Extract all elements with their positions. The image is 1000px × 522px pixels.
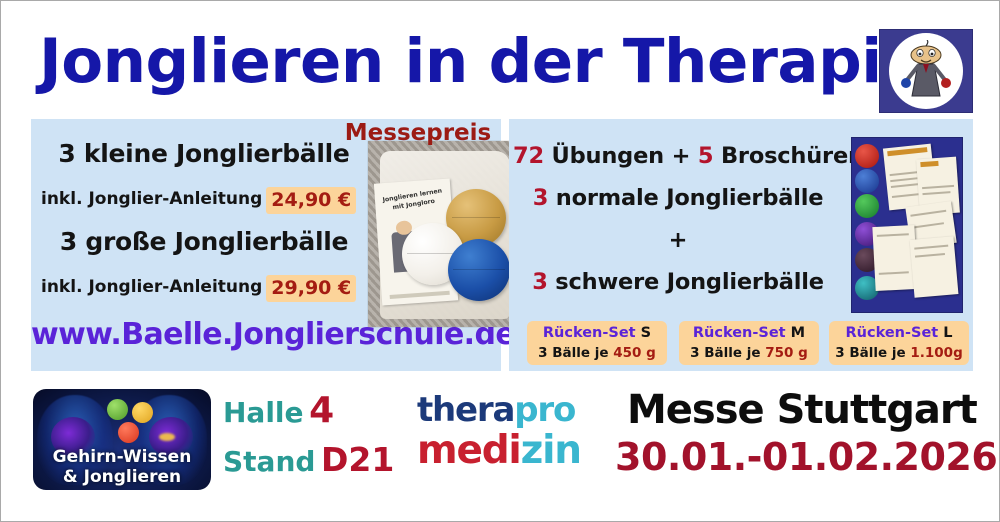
right-line4-text: schwere Jonglierbälle <box>548 269 824 295</box>
ruecken-set-l-title: Rücken-Set L <box>829 325 969 341</box>
ruecken-set-l-name: Rücken-Set <box>845 325 943 341</box>
ruecken-set-s-title: Rücken-Set S <box>527 325 667 341</box>
ruecken-set-m-weight: 750 <box>765 345 793 361</box>
ruecken-set-s-size: S <box>641 325 651 341</box>
brain-spark <box>159 433 175 441</box>
brochure-5 <box>910 236 959 298</box>
right-line1-text2: Broschüren <box>713 143 863 169</box>
booklet-footer-bar <box>390 291 450 299</box>
right-line1-num1: 72 <box>513 143 544 169</box>
ruecken-set-m-title: Rücken-Set M <box>679 325 819 341</box>
right-line-4: 3 schwere Jonglierbälle <box>513 269 843 295</box>
hall-row: Halle 4 <box>223 393 334 429</box>
juggler-logo <box>879 29 973 113</box>
venue-name: Messe Stuttgart <box>627 387 977 433</box>
sets-panel: 72 Übungen + 5 Broschüren 3 normale Jong… <box>509 119 973 371</box>
offer1-subline: inkl. Jonglier-Anleitung24,90 € <box>41 187 371 214</box>
ruecken-set-l[interactable]: Rücken-Set L 3 Bälle je 1.100g <box>829 321 969 365</box>
medizin-zin: zin <box>521 428 581 473</box>
ruecken-set-s-weight: 450 <box>613 345 641 361</box>
ruecken-set-s-sub: 3 Bälle je 450 g <box>527 345 667 361</box>
footer: Gehirn-Wissen & Jonglieren Halle 4 Stand… <box>1 379 1000 509</box>
ruecken-set-m-sub: 3 Bälle je 750 g <box>679 345 819 361</box>
venue-dates: 30.01.-01.02.2026 <box>615 435 997 479</box>
stand-value: D21 <box>321 440 394 479</box>
ruecken-set-s-prefix: 3 Bälle je <box>538 345 613 361</box>
set-ball-red <box>855 144 879 168</box>
ruecken-set-l-weight: 1.100 <box>910 345 953 361</box>
logo-ball-red <box>118 422 139 443</box>
messepreis-label: Messepreis <box>338 120 498 146</box>
gehirn-logo-line2: & Jonglieren <box>33 467 211 487</box>
ruecken-set-l-size: L <box>943 325 952 341</box>
ruecken-set-l-sub: 3 Bälle je 1.100g <box>829 345 969 361</box>
product-photo-balls: Jonglieren lernen mit Jongloro <box>368 141 518 327</box>
juggler-icon <box>896 40 956 102</box>
therapro-thera: thera <box>417 390 514 430</box>
offer1-title: 3 kleine Jonglierbälle <box>49 139 359 168</box>
right-line4-num: 3 <box>532 269 547 295</box>
logo-ball-yellow <box>132 402 153 423</box>
right-line-1: 72 Übungen + 5 Broschüren <box>513 143 843 169</box>
offers-panel: 3 kleine Jonglierbälle inkl. Jonglier-An… <box>31 119 501 371</box>
header: Jonglieren in der Therapie <box>1 7 1000 111</box>
poster-root: Jonglieren in der Therapie 3 kleine <box>0 0 1000 522</box>
hall-label: Halle <box>223 396 304 429</box>
right-line1-num2: 5 <box>698 143 713 169</box>
page-title: Jonglieren in der Therapie <box>39 29 879 95</box>
medizin-medi: medi <box>417 428 521 473</box>
right-line-2: 3 normale Jonglierbälle <box>513 185 843 211</box>
ruecken-set-m-size: M <box>791 325 805 341</box>
ruecken-set-s-unit: g <box>641 345 655 361</box>
offer2-sub-label: inkl. Jonglier-Anleitung <box>41 277 262 297</box>
booklet-title: Jonglieren lernen mit Jongloro <box>379 186 447 214</box>
ruecken-set-m[interactable]: Rücken-Set M 3 Bälle je 750 g <box>679 321 819 365</box>
gehirn-wissen-logo: Gehirn-Wissen & Jonglieren <box>33 389 211 490</box>
set-ball-green <box>855 194 879 218</box>
medizin-line: medizin <box>417 431 581 470</box>
gehirn-logo-line1: Gehirn-Wissen <box>33 447 211 467</box>
ruecken-set-s[interactable]: Rücken-Set S 3 Bälle je 450 g <box>527 321 667 365</box>
right-line1-text1: Übungen + <box>544 143 698 169</box>
set-ball-blue <box>855 169 879 193</box>
right-line-3-plus: + <box>513 227 843 253</box>
product-photo-sets <box>851 137 963 313</box>
ruecken-set-s-name: Rücken-Set <box>543 325 641 341</box>
offer2-title: 3 große Jonglierbälle <box>49 227 359 256</box>
therapro-line: therapro <box>417 393 575 427</box>
ruecken-set-m-name: Rücken-Set <box>693 325 791 341</box>
offer1-price-badge: 24,90 € <box>266 187 356 214</box>
ruecken-set-l-prefix: 3 Bälle je <box>835 345 910 361</box>
stand-label: Stand <box>223 445 315 478</box>
stand-row: Stand D21 <box>223 443 394 476</box>
therapro-pro: pro <box>514 390 575 430</box>
ruecken-set-m-prefix: 3 Bälle je <box>690 345 765 361</box>
hall-value: 4 <box>309 390 334 431</box>
offer2-price-badge: 29,90 € <box>266 275 356 302</box>
ruecken-set-m-unit: g <box>793 345 807 361</box>
ruecken-set-l-unit: g <box>953 345 963 361</box>
logo-ball-green <box>107 399 128 420</box>
ball-blue <box>448 239 510 301</box>
offer1-sub-label: inkl. Jonglier-Anleitung <box>41 189 262 209</box>
right-line2-num: 3 <box>533 185 548 211</box>
right-line2-text: normale Jonglierbälle <box>548 185 823 211</box>
offer2-subline: inkl. Jonglier-Anleitung29,90 € <box>41 275 371 302</box>
